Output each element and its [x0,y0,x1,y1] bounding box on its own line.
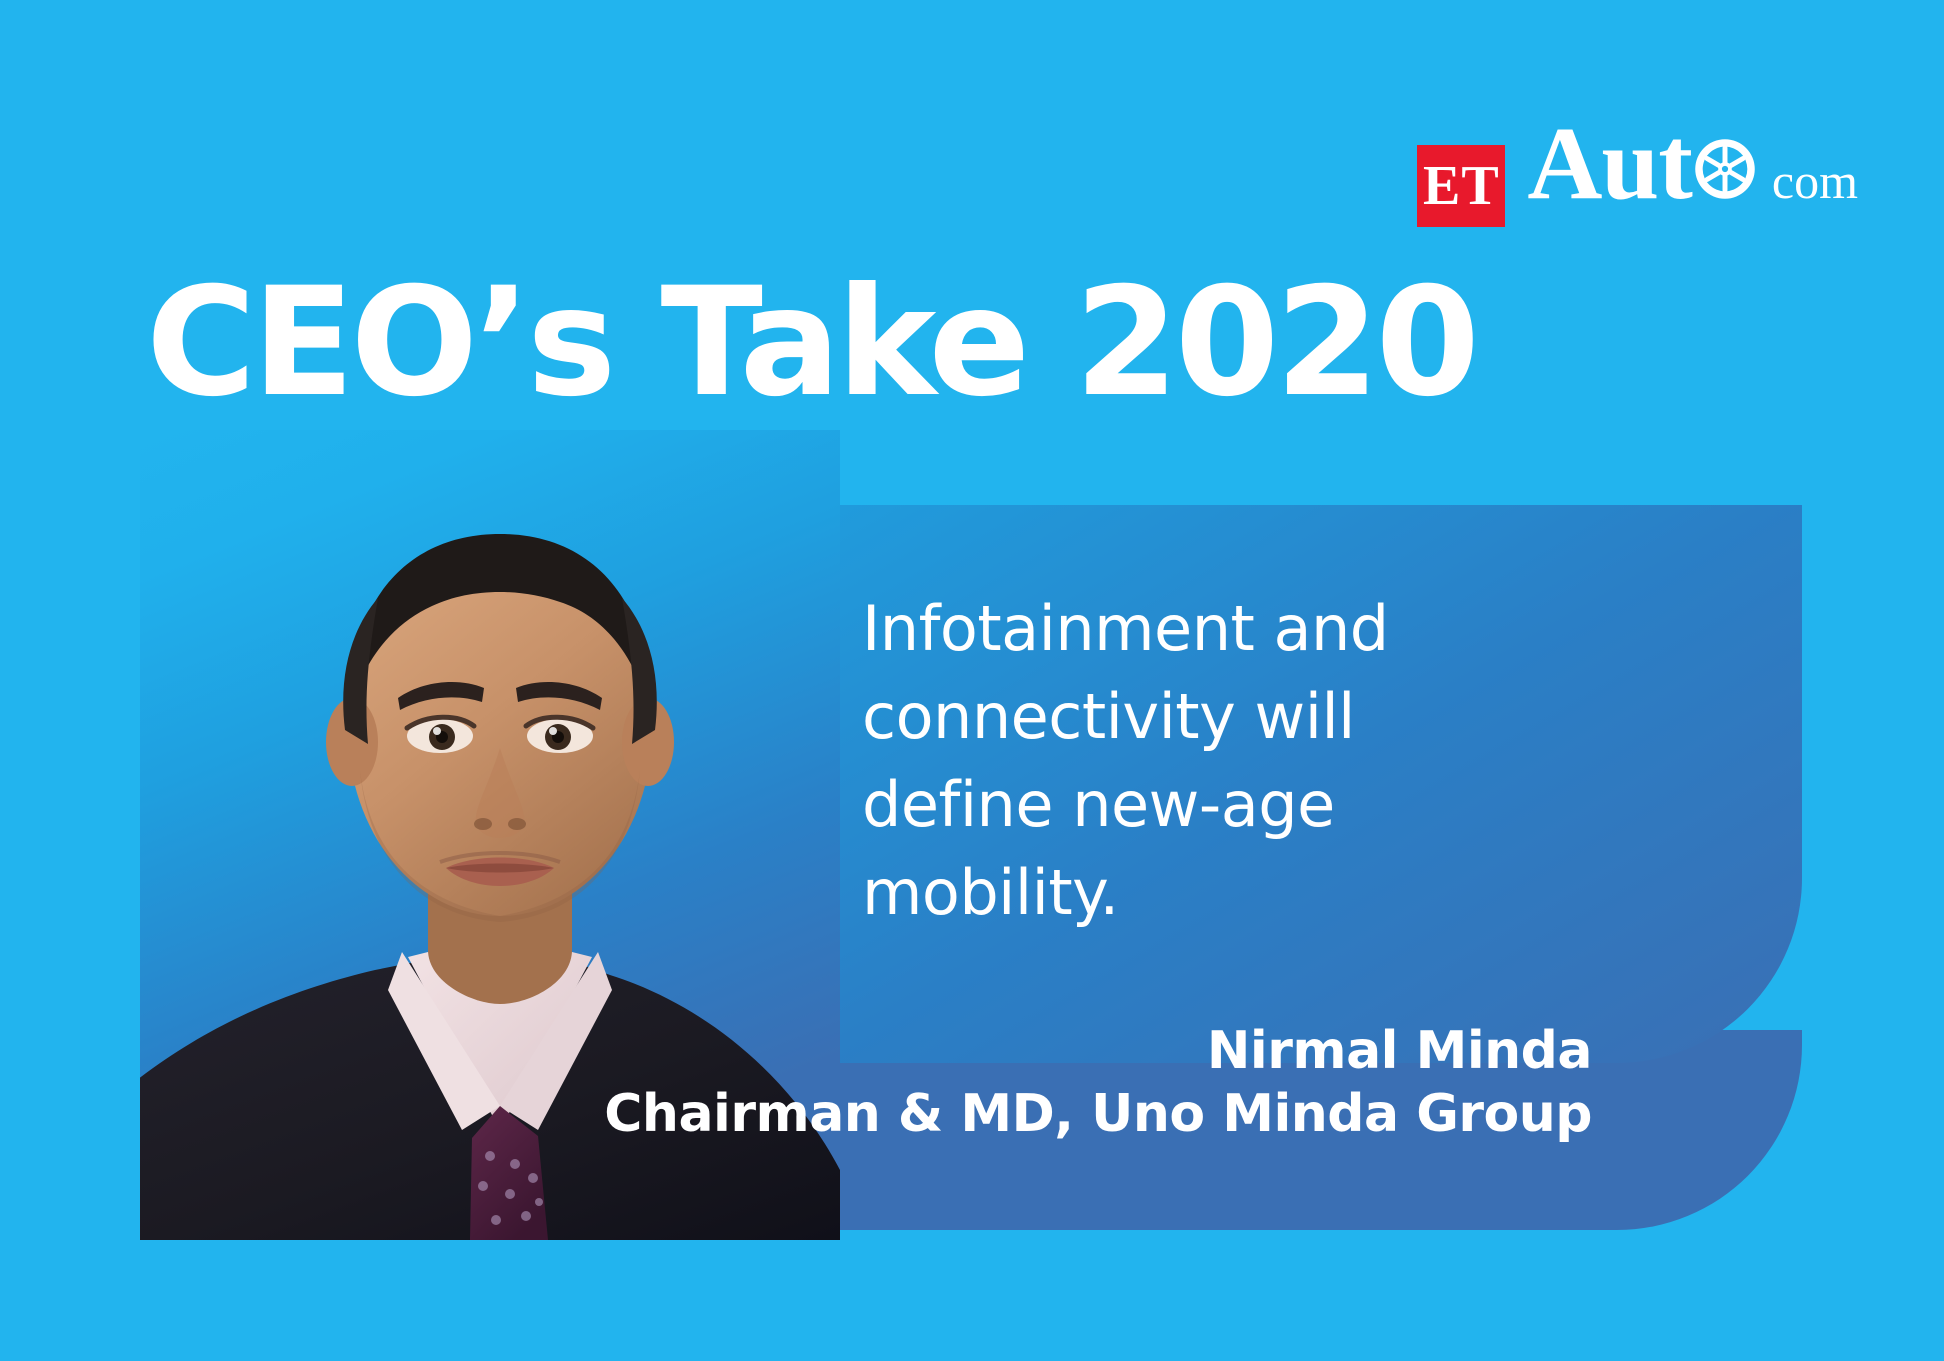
quote-line-3: define new-age [862,761,1552,849]
ceo-take-card: ET Aut com CEO’s Take 2020 [0,0,1944,1361]
attribution-name: Nirmal Minda [604,1020,1592,1083]
auto-wordmark-text: Aut [1527,112,1692,216]
quote-line-2: connectivity will [862,673,1552,761]
page-title: CEO’s Take 2020 [146,268,1476,418]
et-logo-badge: ET [1417,145,1505,227]
brand-logo[interactable]: ET Aut com [1417,112,1858,204]
quote-line-4: mobility. [862,849,1552,937]
attribution: Nirmal Minda Chairman & MD, Uno Minda Gr… [604,1020,1592,1147]
auto-wordmark: Aut [1527,112,1756,216]
attribution-role: Chairman & MD, Uno Minda Group [604,1083,1592,1146]
quote-line-1: Infotainment and [862,585,1552,673]
quote-text: Infotainment and connectivity will defin… [862,585,1552,937]
brand-com-suffix: com [1772,156,1858,206]
wheel-icon [1694,138,1756,200]
